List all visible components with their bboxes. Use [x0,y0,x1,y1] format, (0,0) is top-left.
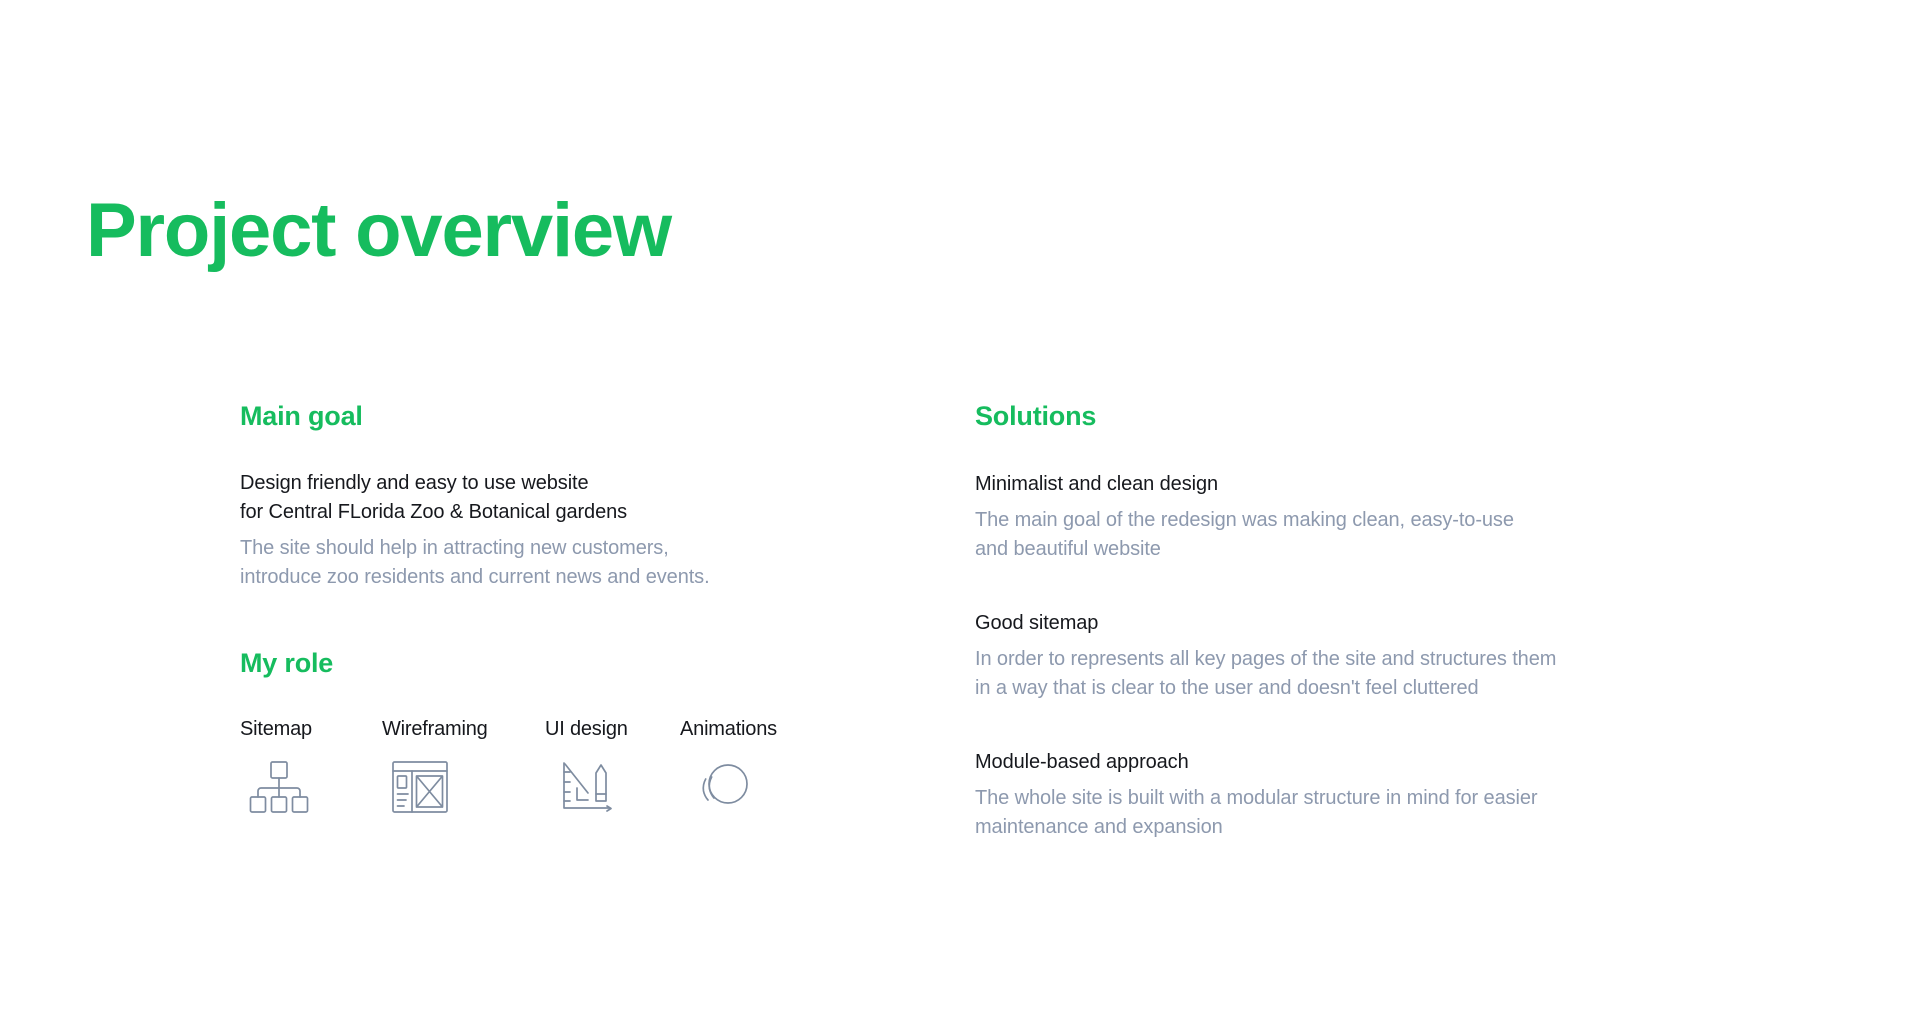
ui-design-icon [555,759,617,815]
role-label: Sitemap [240,717,312,741]
role-item-ui-design: UI design [545,717,680,815]
role-label: UI design [545,717,628,741]
solution-body-line: In order to represents all key pages of … [975,645,1735,674]
solution-title: Module-based approach [975,748,1735,776]
role-label: Wireframing [382,717,488,741]
solution-body-line: The main goal of the redesign was making… [975,506,1735,535]
main-goal-primary: Design friendly and easy to use website … [240,469,880,527]
role-list: Sitemap Wireframing [240,717,880,815]
wireframe-icon [390,759,452,815]
solution-title: Good sitemap [975,609,1735,637]
solution-title: Minimalist and clean design [975,470,1735,498]
solution-item: Minimalist and clean design The main goa… [975,470,1735,564]
solution-body-line: and beautiful website [975,535,1735,564]
main-goal-heading: Main goal [240,400,880,432]
main-goal-secondary-line: The site should help in attracting new c… [240,534,880,563]
main-goal-primary-line: for Central FLorida Zoo & Botanical gard… [240,498,880,527]
role-label: Animations [680,717,777,741]
solution-item: Module-based approach The whole site is … [975,748,1735,842]
solution-body-line: maintenance and expansion [975,813,1735,842]
role-item-animations: Animations [680,717,820,815]
main-goal-primary-line: Design friendly and easy to use website [240,469,880,498]
solution-body: In order to represents all key pages of … [975,645,1735,703]
right-column: Solutions Minimalist and clean design Th… [975,400,1735,842]
solution-item: Good sitemap In order to represents all … [975,609,1735,703]
main-goal-secondary: The site should help in attracting new c… [240,534,880,592]
animation-icon [694,759,756,815]
page-title: Project overview [86,191,671,271]
sitemap-icon [248,759,310,815]
solution-body: The whole site is built with a modular s… [975,784,1735,842]
solutions-heading: Solutions [975,400,1735,432]
main-goal-text-block: Design friendly and easy to use website … [240,469,880,592]
my-role-heading: My role [240,647,880,679]
role-item-sitemap: Sitemap [240,717,382,815]
solution-body-line: in a way that is clear to the user and d… [975,674,1735,703]
solution-body-line: The whole site is built with a modular s… [975,784,1735,813]
role-item-wireframing: Wireframing [382,717,545,815]
solution-body: The main goal of the redesign was making… [975,506,1735,564]
slide-canvas: Project overview Main goal Design friend… [0,0,1920,1035]
left-column: Main goal Design friendly and easy to us… [240,400,880,815]
main-goal-secondary-line: introduce zoo residents and current news… [240,563,880,592]
